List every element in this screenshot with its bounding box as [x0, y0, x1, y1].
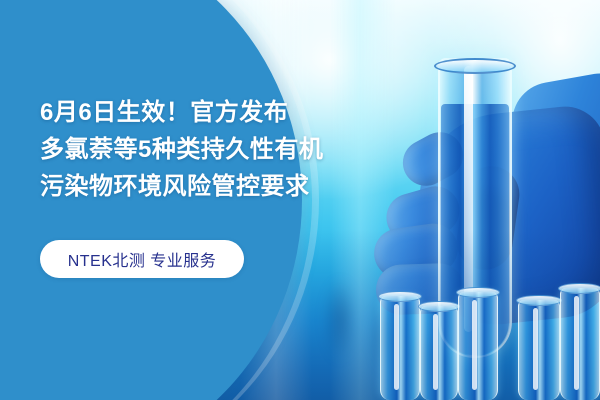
headline-line-2: 多氯萘等5种类持久性有机	[40, 131, 370, 168]
rack-tube-rim	[558, 283, 600, 294]
rack-tube-highlight	[574, 296, 579, 390]
headline-line-1: 6月6日生效！官方发布	[40, 94, 370, 131]
brand-badge[interactable]: NTEK北测 专业服务	[40, 240, 244, 278]
promo-banner: 6月6日生效！官方发布 多氯萘等5种类持久性有机 污染物环境风险管控要求 NTE…	[0, 0, 600, 400]
headline: 6月6日生效！官方发布 多氯萘等5种类持久性有机 污染物环境风险管控要求	[40, 94, 370, 205]
rack-test-tube	[420, 306, 458, 400]
brand-badge-label: NTEK北测 专业服务	[68, 247, 217, 271]
headline-line-3: 污染物环境风险管控要求	[40, 168, 370, 205]
rack-tube-rim	[516, 295, 562, 306]
rack-test-tube	[518, 300, 560, 400]
rack-tube-rim	[418, 301, 460, 312]
rack-tube-highlight	[533, 308, 538, 390]
rack-test-tube	[458, 292, 498, 400]
rack-tube-rim	[456, 287, 500, 298]
rack-test-tube	[560, 288, 600, 400]
rack-tube-highlight	[472, 300, 477, 390]
test-tube-rim	[434, 58, 516, 74]
rack-tube-highlight	[433, 314, 438, 390]
